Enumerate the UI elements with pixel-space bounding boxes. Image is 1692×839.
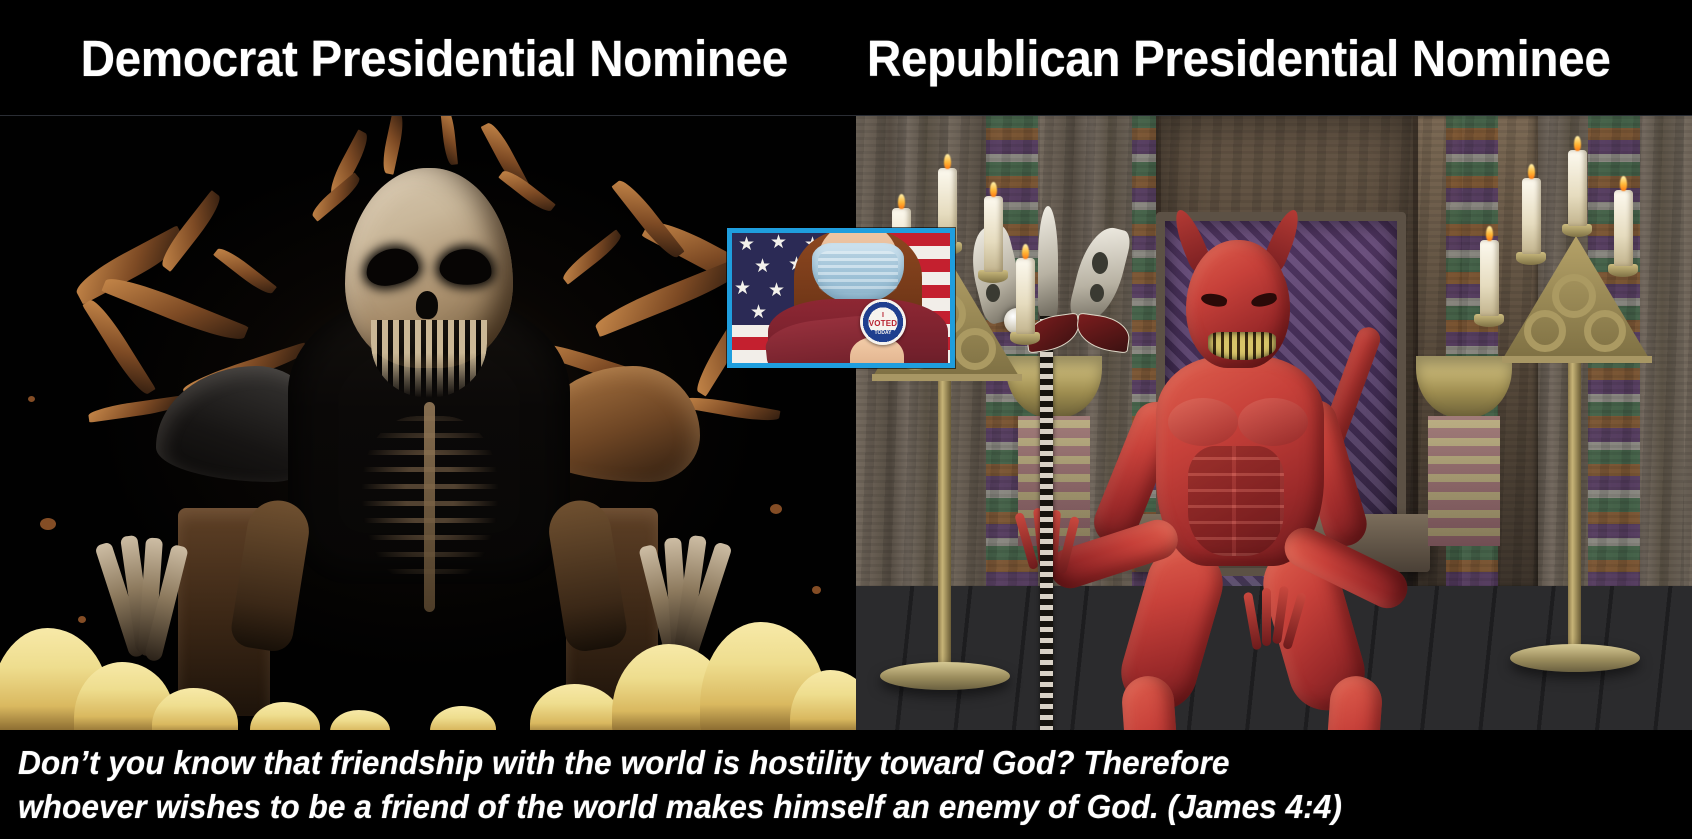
sticker-line-today: TODAY [871,330,896,337]
candle-flame [1022,244,1029,259]
candle [1016,258,1035,334]
candelabra-ring-right [1584,310,1626,352]
skeleton-spine [424,402,435,612]
ember [40,518,56,530]
caption-line-1: Don’t you know that friendship with the … [18,746,1229,779]
inset-masked-voter-photo[interactable]: ★ ★ ★ ★ ★ ★ ★ ★ ★ ★ ★ ★ I VOTED TODAY [727,228,955,368]
flag-star: ★ [734,279,751,298]
demon-mouth [1208,332,1276,360]
scripture-caption: Don’t you know that friendship with the … [0,730,1692,839]
candelabra-crossbar [1502,356,1652,363]
candelabra-left [856,142,1046,702]
sticker-line-i: I [882,312,884,319]
flag-star: ★ [754,257,771,276]
candle-flame [1528,164,1535,179]
candelabra-crossbar [872,374,1022,381]
candelabra-base [1510,644,1640,672]
demon-pec-left [1168,398,1238,446]
sticker-line-voted: VOTED [869,320,898,328]
candle [1480,240,1499,316]
candelabra-base [880,662,1010,690]
candle-flame [1620,176,1627,191]
ember [812,586,821,594]
demon-hand-right [1248,586,1306,656]
demon-pec-right [1238,398,1308,446]
image-stage: ★ ★ ★ ★ ★ ★ ★ ★ ★ ★ ★ ★ I VOTED TODAY [0,116,1692,730]
candelabra-right [1480,124,1676,684]
candle-flame [990,182,997,197]
candelabra-ring-top [1552,274,1596,318]
candle-flame [1486,226,1493,241]
skeleton-hand-left [92,536,220,686]
i-voted-sticker: I VOTED TODAY [860,299,906,345]
candle [1568,150,1587,226]
skeleton-hand-right [634,536,762,686]
panel-republican-red-demon [856,116,1692,730]
flag-star: ★ [750,303,767,322]
candelabra-ring-left [1524,310,1566,352]
panel-democrat-skeleton-king [0,116,856,730]
candelabra-ring-right [954,328,996,370]
ember [770,504,782,514]
candle [984,196,1003,272]
candle-flame [898,194,905,209]
header-banner: Democrat Presidential Nominee Republican… [0,0,1692,116]
candle-flame [944,154,951,169]
candle [1522,178,1541,254]
caption-line-2: whoever wishes to be a friend of the wor… [18,790,1342,823]
ember [28,396,35,402]
flag-star: ★ [768,281,785,300]
ember [78,616,86,623]
flag-star: ★ [738,235,755,254]
prong-hole [1090,284,1104,302]
skull-nose [416,291,439,320]
demon-abdomen [1188,446,1284,556]
trident-prong-right [1067,222,1133,326]
prong-hole [1092,252,1108,274]
header-titles: Democrat Presidential Nominee Republican… [0,0,1692,116]
title-republican-nominee: Republican Presidential Nominee [866,33,1610,84]
candle-flame [1574,136,1581,151]
candle [1614,190,1633,266]
title-democrat-nominee: Democrat Presidential Nominee [81,33,788,84]
flag-star: ★ [770,233,787,252]
